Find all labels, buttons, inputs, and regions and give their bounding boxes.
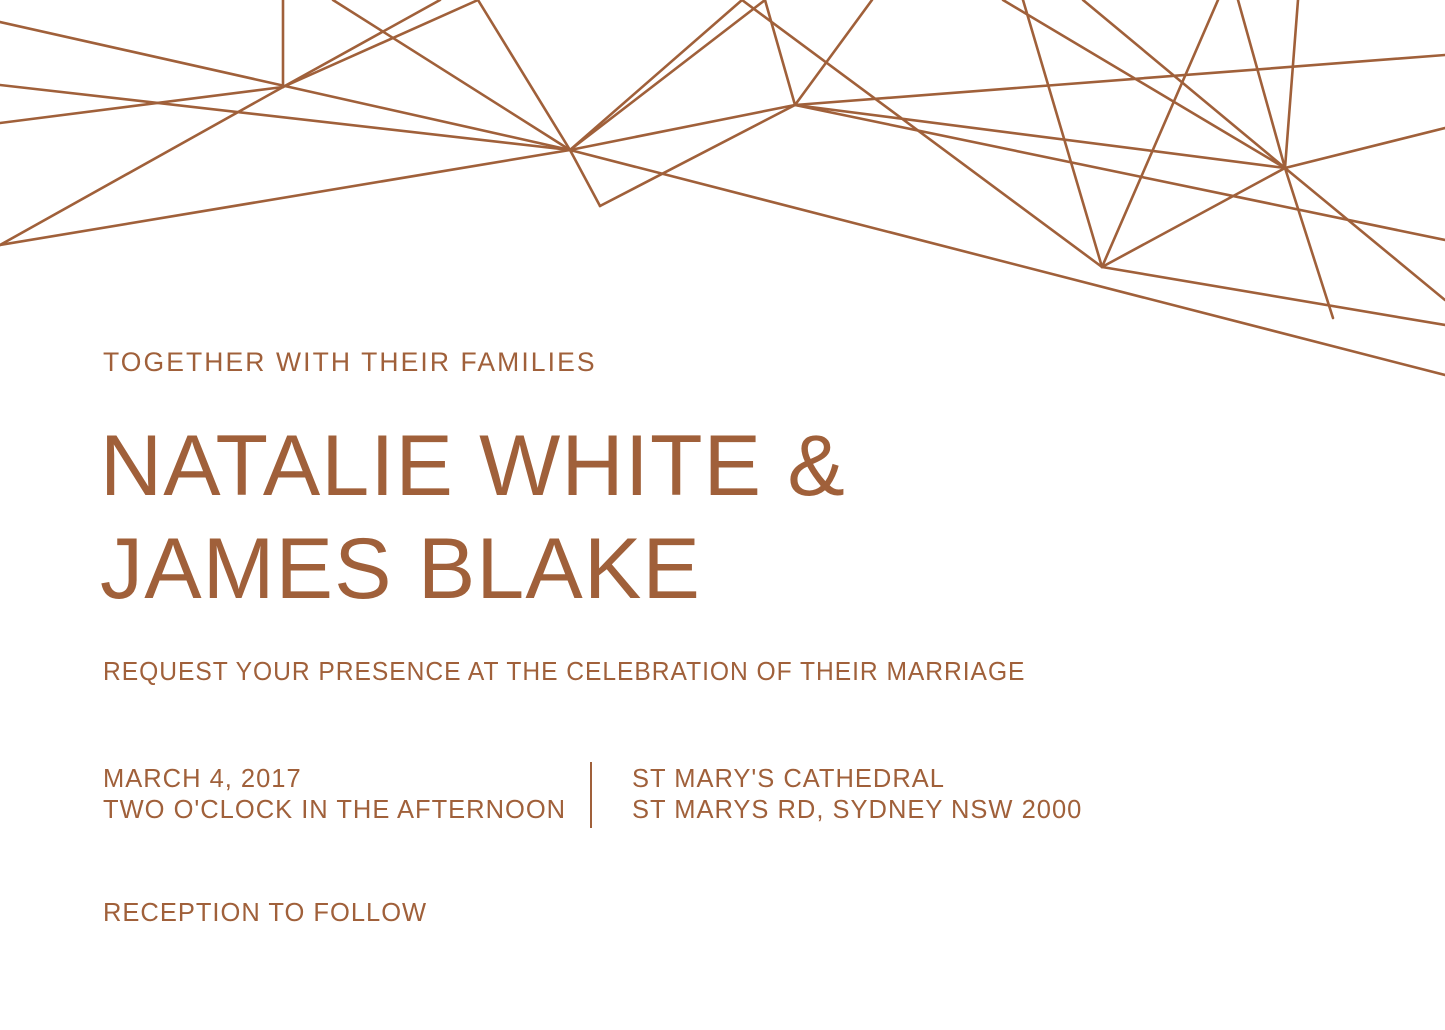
couple-name-line-1: NATALIE WHITE & — [100, 415, 846, 518]
event-where-column: ST MARY'S CATHEDRAL ST MARYS RD, SYDNEY … — [632, 764, 1082, 826]
event-date: MARCH 4, 2017 — [103, 764, 590, 795]
event-details: MARCH 4, 2017 TWO O'CLOCK IN THE AFTERNO… — [103, 764, 1082, 828]
event-when-column: MARCH 4, 2017 TWO O'CLOCK IN THE AFTERNO… — [103, 764, 590, 826]
request-text: REQUEST YOUR PRESENCE AT THE CELEBRATION… — [103, 658, 1025, 687]
invitation-content: TOGETHER WITH THEIR FAMILIES NATALIE WHI… — [0, 0, 1445, 1030]
eyebrow-text: TOGETHER WITH THEIR FAMILIES — [103, 347, 597, 378]
details-divider — [590, 762, 592, 828]
event-address: ST MARYS RD, SYDNEY NSW 2000 — [632, 795, 1082, 826]
couple-names: NATALIE WHITE & JAMES BLAKE — [100, 415, 846, 621]
event-venue: ST MARY'S CATHEDRAL — [632, 764, 1082, 795]
event-time: TWO O'CLOCK IN THE AFTERNOON — [103, 795, 590, 826]
reception-note: RECEPTION TO FOLLOW — [103, 899, 427, 928]
wedding-invitation-card: TOGETHER WITH THEIR FAMILIES NATALIE WHI… — [0, 0, 1445, 1030]
couple-name-line-2: JAMES BLAKE — [100, 518, 846, 621]
